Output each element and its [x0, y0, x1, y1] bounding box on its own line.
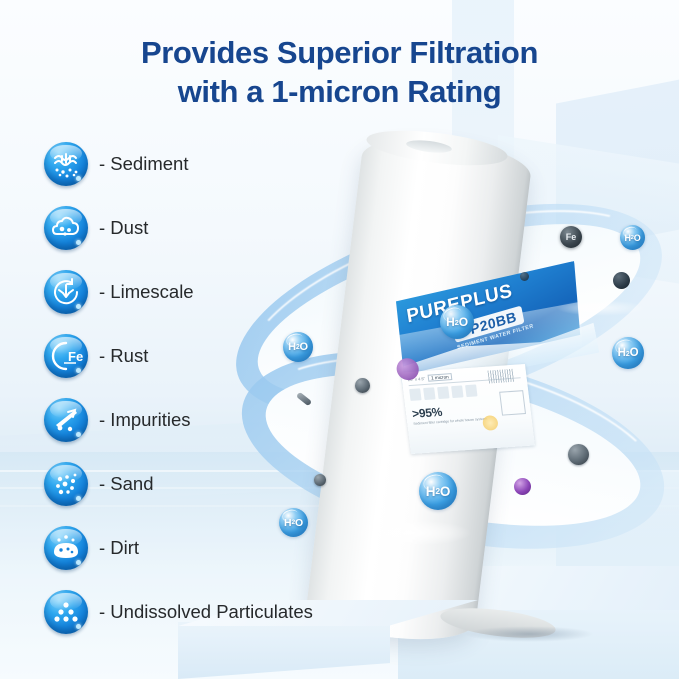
title-line-2: with a 1-micron Rating — [0, 72, 679, 111]
feature-label: - Dust — [99, 217, 148, 239]
svg-text:Fe: Fe — [68, 349, 83, 364]
sediment-icon — [44, 142, 88, 186]
dirt-icon — [44, 526, 88, 570]
rust-fe-particle: Fe — [560, 226, 582, 248]
feature-label: - Limescale — [99, 281, 194, 303]
contaminant-particle — [568, 444, 589, 465]
spec-label: 20" x 4.5" 1 micron >95% Sediment filter… — [401, 364, 535, 454]
feature-label: - Sand — [99, 473, 154, 495]
feature-item-limescale[interactable]: - Limescale — [44, 270, 374, 314]
h2o-bubble: H2O — [440, 305, 474, 339]
h2o-bubble: H2O — [419, 472, 457, 510]
feature-label: - Impurities — [99, 409, 191, 431]
infographic-canvas: Provides Superior Filtration with a 1-mi… — [0, 0, 679, 679]
feature-item-dust[interactable]: - Dust — [44, 206, 374, 250]
feature-item-rust[interactable]: Fe - Rust — [44, 334, 374, 378]
contaminant-particle — [520, 272, 529, 281]
feature-item-undissolved-particulates[interactable]: - Undissolved Particulates — [44, 590, 374, 634]
h2o-bubble: H2O — [612, 337, 644, 369]
impurities-icon — [44, 398, 88, 442]
page-title: Provides Superior Filtration with a 1-mi… — [0, 33, 679, 111]
barcode — [487, 369, 515, 384]
feature-item-sand[interactable]: - Sand — [44, 462, 374, 506]
feature-label: - Sediment — [99, 153, 188, 175]
limescale-icon — [44, 270, 88, 314]
cartridge-shadow — [464, 626, 594, 642]
h2o-bubble: H2O — [620, 225, 645, 250]
spec-micron: 1 micron — [428, 373, 452, 382]
feature-label: - Undissolved Particulates — [99, 601, 313, 623]
feature-list: - Sediment - Dust - Limescale — [44, 142, 374, 654]
contaminant-particle — [514, 478, 531, 495]
title-line-1: Provides Superior Filtration — [141, 35, 538, 70]
dust-cloud-icon — [44, 206, 88, 250]
rust-fe-icon: Fe — [44, 334, 88, 378]
light-glint — [556, 300, 646, 316]
feature-label: - Dirt — [99, 537, 139, 559]
feature-item-impurities[interactable]: - Impurities — [44, 398, 374, 442]
contaminant-particle — [613, 272, 630, 289]
feature-item-sediment[interactable]: - Sediment — [44, 142, 374, 186]
particulates-icon — [44, 590, 88, 634]
feature-label: - Rust — [99, 345, 148, 367]
spec-box-graphic — [499, 390, 526, 415]
feature-item-dirt[interactable]: - Dirt — [44, 526, 374, 570]
sand-icon — [44, 462, 88, 506]
